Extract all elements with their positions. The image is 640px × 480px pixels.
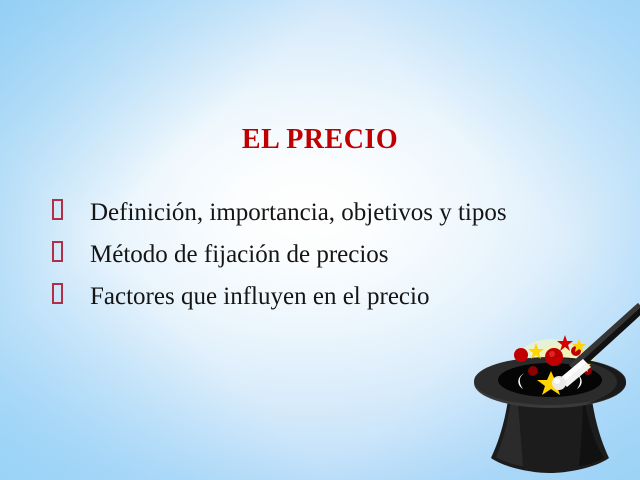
slide-canvas: EL PRECIO Definición, importancia, objet… — [0, 0, 640, 480]
page-title: EL PRECIO — [0, 124, 640, 156]
ball-icon — [514, 348, 528, 362]
bullet-box-icon — [52, 241, 63, 262]
ball-icon — [528, 366, 538, 376]
bullet-box-icon — [52, 283, 63, 304]
list-item: Definición, importancia, objetivos y tip… — [52, 192, 597, 233]
magic-hat-illustration — [455, 295, 640, 480]
list-item-label: Método de fijación de precios — [90, 234, 597, 275]
bullet-box-icon — [52, 199, 63, 220]
list-item: Método de fijación de precios — [52, 234, 597, 275]
list-item-label: Definición, importancia, objetivos y tip… — [90, 192, 597, 233]
